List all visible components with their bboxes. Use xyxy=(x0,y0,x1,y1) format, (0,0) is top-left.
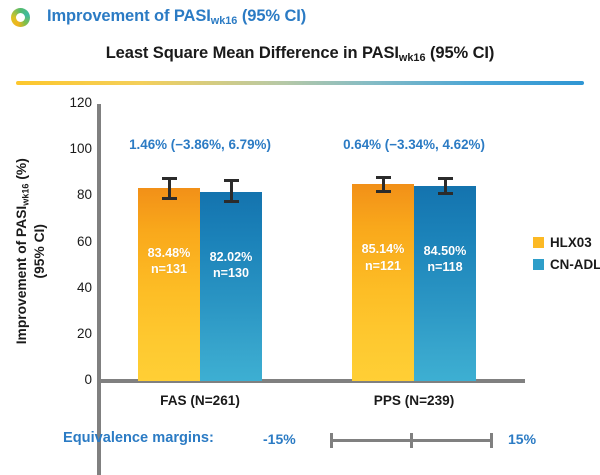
y-axis-title-line2: (95% CI) xyxy=(31,224,46,278)
chart-title-suffix: (95% CI) xyxy=(426,44,495,62)
y-axis-tick-label: 20 xyxy=(52,326,92,341)
chart-title: Least Square Mean Difference in PASIwk16… xyxy=(0,44,600,64)
equivalence-margin-footer: Equivalence margins: -15% 15% xyxy=(0,428,600,458)
legend-label: HLX03 xyxy=(550,235,592,250)
bar-value-label: 84.50%n=118 xyxy=(414,243,476,275)
bar-value-label: 82.02%n=130 xyxy=(200,249,262,281)
y-axis-tick-label: 120 xyxy=(52,95,92,110)
bar-hlx03-pps[interactable]: 85.14%n=121 xyxy=(352,184,414,381)
bar-value-label: 85.14%n=121 xyxy=(352,241,414,273)
chart-plot-area: Improvement of PASIwk16 (%) (95% CI) 020… xyxy=(0,92,600,422)
ring-gradient-icon xyxy=(11,8,30,27)
gradient-divider xyxy=(16,81,584,85)
y-axis-tick-labels: 020406080100120 xyxy=(46,92,92,383)
scale-tick-center xyxy=(410,433,413,448)
header-title-subscript: wk16 xyxy=(211,15,238,27)
scale-tick-right xyxy=(490,433,493,448)
header-title-suffix: (95% CI) xyxy=(237,7,306,25)
bar-percent-label: 85.14% xyxy=(362,242,405,256)
chart-legend: HLX03CN-ADL xyxy=(533,231,600,275)
x-axis-tick-label: FAS (N=261) xyxy=(120,393,280,408)
ci-annotation: 0.64% (−3.34%, 4.62%) xyxy=(294,137,534,152)
legend-swatch-icon xyxy=(533,237,544,248)
y-axis-title-suffix: (%) xyxy=(14,158,29,183)
y-axis-line xyxy=(97,104,101,475)
bar-n-label: n=130 xyxy=(213,266,249,280)
y-axis-tick-label: 80 xyxy=(52,187,92,202)
bar-percent-label: 82.02% xyxy=(210,250,253,264)
y-axis-tick-label: 40 xyxy=(52,280,92,295)
y-axis-title: Improvement of PASIwk16 (%) (95% CI) xyxy=(14,126,48,376)
error-bar xyxy=(382,176,385,194)
bar-n-label: n=131 xyxy=(151,262,187,276)
legend-swatch-icon xyxy=(533,259,544,270)
equivalence-margin-scale xyxy=(330,439,493,442)
error-bar xyxy=(444,177,447,195)
y-axis-tick-label: 60 xyxy=(52,234,92,249)
bar-n-label: n=118 xyxy=(427,260,462,274)
equivalence-margin-high: 15% xyxy=(508,431,536,447)
bar-value-label: 83.48%n=131 xyxy=(138,245,200,277)
bar-percent-label: 83.48% xyxy=(148,246,191,260)
bar-cn-adl-pps[interactable]: 84.50%n=118 xyxy=(414,186,476,381)
equivalence-margins-label: Equivalence margins: xyxy=(63,430,214,446)
bar-cn-adl-fas[interactable]: 82.02%n=130 xyxy=(200,192,262,381)
chart-title-prefix: Least Square Mean Difference in PASI xyxy=(106,44,399,62)
error-bar xyxy=(168,177,171,200)
error-bar xyxy=(230,179,233,203)
x-axis-tick-label: PPS (N=239) xyxy=(334,393,494,408)
bar-hlx03-fas[interactable]: 83.48%n=131 xyxy=(138,188,200,381)
y-axis-tick-label: 0 xyxy=(52,372,92,387)
legend-label: CN-ADL xyxy=(550,257,600,272)
scale-tick-left xyxy=(330,433,333,448)
y-axis-title-subscript: wk16 xyxy=(20,184,30,206)
chart-title-subscript: wk16 xyxy=(399,52,426,64)
bar-percent-label: 84.50% xyxy=(424,244,467,258)
y-axis-title-prefix: Improvement of PASI xyxy=(14,206,29,345)
page-title: Improvement of PASIwk16 (95% CI) xyxy=(47,7,306,27)
header-bar: Improvement of PASIwk16 (95% CI) xyxy=(0,0,600,34)
ci-annotation: 1.46% (−3.86%, 6.79%) xyxy=(80,137,320,152)
bar-n-label: n=121 xyxy=(365,259,401,273)
legend-item-cn-adl[interactable]: CN-ADL xyxy=(533,253,600,275)
equivalence-margin-low: -15% xyxy=(263,431,296,447)
legend-item-hlx03[interactable]: HLX03 xyxy=(533,231,600,253)
header-title-prefix: Improvement of PASI xyxy=(47,7,211,25)
